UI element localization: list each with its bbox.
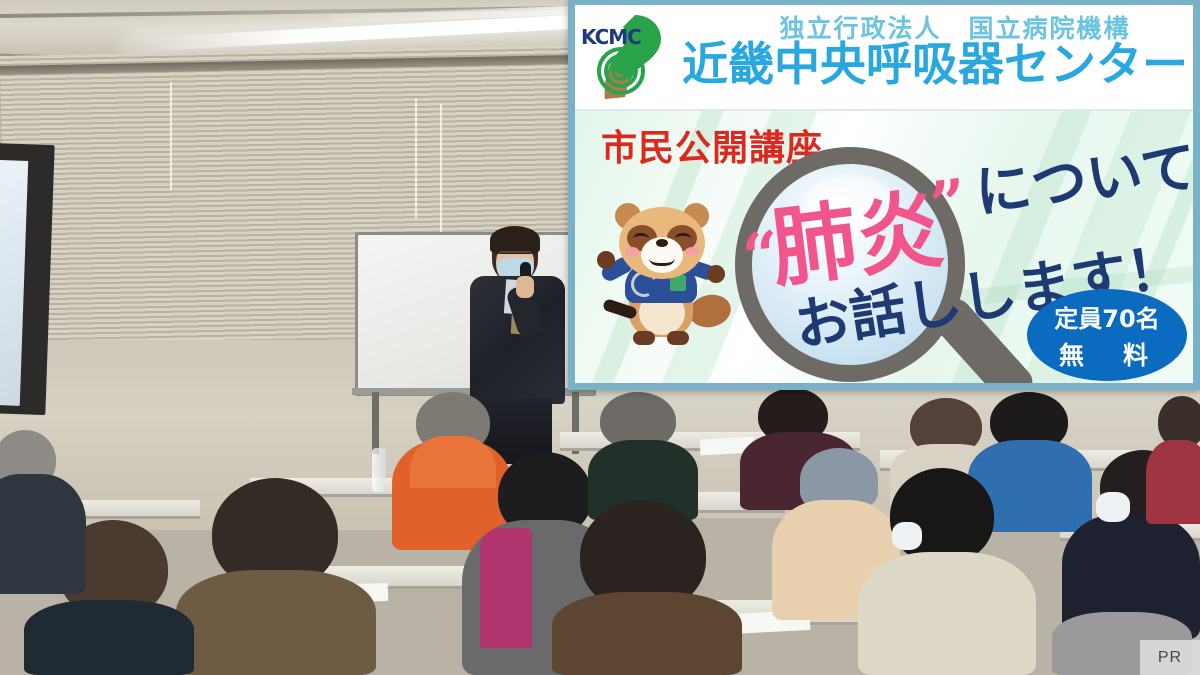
pr-watermark: PR	[1140, 640, 1200, 675]
kcmc-acronym: KCMC	[581, 25, 641, 49]
status-badge: 定員70名 無 料	[1027, 289, 1187, 381]
speaker-hand	[516, 276, 534, 298]
headline-suffix: について	[972, 140, 1193, 223]
badge-capacity: 定員70名	[1054, 299, 1159, 334]
badge-price: 無 料	[1059, 336, 1155, 372]
org-name: 近畿中央呼吸器センター	[675, 41, 1193, 87]
water-bottle	[372, 448, 386, 492]
screenshot-root: KCMC 独立行政法人 国立病院機構 近畿中央呼吸器センター 市民公開講座	[0, 0, 1200, 675]
blind-cord	[415, 98, 417, 218]
speaker-hair	[490, 226, 540, 254]
poster-body: 市民公開講座	[575, 111, 1193, 383]
kcmc-tree-logo-icon	[587, 9, 679, 105]
tanuki-doctor-mascot-icon	[597, 199, 727, 369]
headline-quote-close: ”	[926, 165, 972, 244]
poster-header: KCMC 独立行政法人 国立病院機構 近畿中央呼吸器センター	[575, 5, 1193, 111]
blind-cord	[170, 82, 172, 190]
whiteboard-leg	[372, 392, 379, 454]
event-poster-overlay: KCMC 独立行政法人 国立病院機構 近畿中央呼吸器センター 市民公開講座	[568, 0, 1200, 390]
